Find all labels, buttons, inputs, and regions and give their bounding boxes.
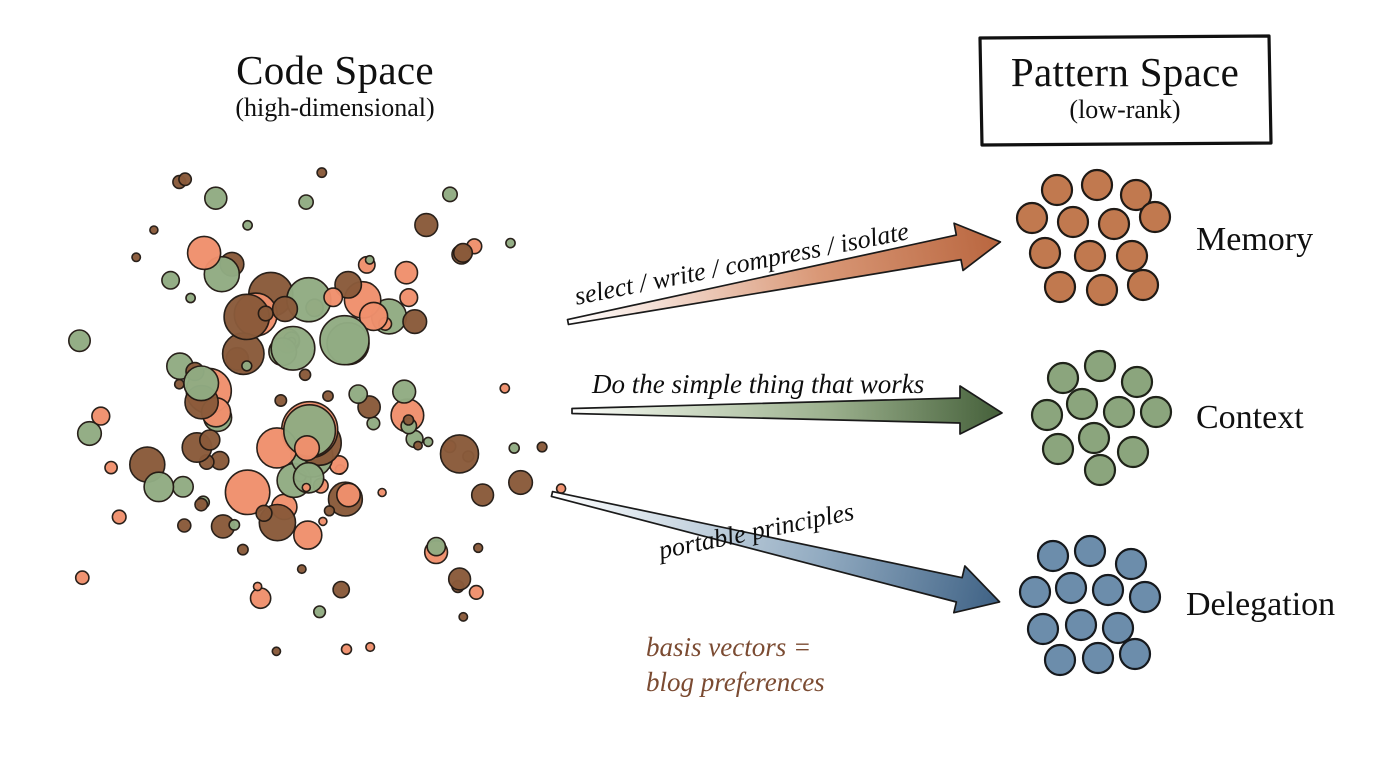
scatter-dot-sage <box>184 366 219 401</box>
cluster-dot-memory <box>1087 275 1117 305</box>
scatter-dot-salmon <box>251 588 271 608</box>
cluster-dot-memory <box>1058 207 1088 237</box>
scatter-dot-brown <box>449 568 471 590</box>
scatter-dot-brown <box>333 582 349 598</box>
cluster-dot-context <box>1079 423 1109 453</box>
scatter-dot-sage <box>320 316 369 365</box>
cluster-label-context: Context <box>1196 399 1304 437</box>
scatter-dot-salmon <box>105 462 117 474</box>
scatter-dot-salmon <box>378 489 386 497</box>
cluster-dot-delegation <box>1045 645 1075 675</box>
scatter-dot-sage <box>349 385 367 403</box>
scatter-dot-brown <box>300 369 311 380</box>
cluster-dot-delegation <box>1120 639 1150 669</box>
cluster-dot-context <box>1032 400 1062 430</box>
scatter-dot-brown <box>317 168 326 177</box>
pattern-space-heading: Pattern Space (low-rank) <box>977 50 1273 124</box>
scatter-dot-sage <box>314 606 326 618</box>
cluster-dot-memory <box>1042 175 1072 205</box>
cluster-dot-context <box>1067 389 1097 419</box>
scatter-dot-brown <box>150 226 158 234</box>
scatter-dot-brown <box>298 565 306 573</box>
scatter-dot-brown <box>474 544 483 553</box>
scatter-dot-sage <box>69 330 90 351</box>
scatter-dot-sage <box>299 195 313 209</box>
cluster-dot-memory <box>1140 202 1170 232</box>
cluster-dot-context <box>1122 367 1152 397</box>
scatter-dot-brown <box>415 214 438 237</box>
cluster-dot-context <box>1085 455 1115 485</box>
scatter-dot-brown <box>323 391 333 401</box>
cluster-dot-delegation <box>1130 582 1160 612</box>
cluster-dot-delegation <box>1103 613 1133 643</box>
scatter-dot-sage <box>162 272 179 289</box>
cluster-context <box>1032 351 1171 485</box>
scatter-dot-sage <box>427 538 445 556</box>
scatter-dot-sage <box>509 443 519 453</box>
scatter-dot-sage <box>443 187 457 201</box>
scatter-dot-salmon <box>188 236 221 269</box>
scatter-dot-brown <box>238 544 248 554</box>
cluster-delegation <box>1020 536 1160 675</box>
cluster-dot-memory <box>1030 238 1060 268</box>
scatter-dot-sage <box>424 437 433 446</box>
cluster-dot-memory <box>1082 170 1112 200</box>
cluster-memory <box>1017 170 1170 305</box>
cluster-dot-delegation <box>1020 577 1050 607</box>
arrow-shape-delegation <box>547 470 1006 623</box>
cluster-dot-memory <box>1017 203 1047 233</box>
cluster-dot-memory <box>1045 272 1075 302</box>
cluster-dot-delegation <box>1075 536 1105 566</box>
cluster-dot-memory <box>1128 270 1158 300</box>
scatter-dot-salmon <box>366 643 375 652</box>
scatter-dot-brown <box>459 613 467 621</box>
scatter-dot-brown <box>200 430 220 450</box>
scatter-dot-brown <box>132 253 140 261</box>
cluster-dot-delegation <box>1038 541 1068 571</box>
cluster-dot-delegation <box>1066 610 1096 640</box>
code-space-title: Code Space <box>130 48 540 92</box>
scatter-dot-brown <box>275 395 286 406</box>
cluster-dot-context <box>1104 397 1134 427</box>
scatter-dot-salmon <box>324 288 342 306</box>
scatter-dot-salmon <box>395 262 417 284</box>
scatter-dot-brown <box>178 519 191 532</box>
scatter-dot-salmon <box>319 517 327 525</box>
code-space-scatter <box>69 168 566 656</box>
scatter-dot-sage <box>205 187 227 209</box>
pattern-space-subtitle: (low-rank) <box>977 96 1273 124</box>
scatter-dot-brown <box>179 173 191 185</box>
cluster-label-delegation: Delegation <box>1186 586 1335 624</box>
scatter-dot-salmon <box>254 582 262 590</box>
scatter-dot-sage <box>367 417 380 430</box>
scatter-dot-brown <box>441 435 479 473</box>
cluster-dot-memory <box>1117 241 1147 271</box>
cluster-label-memory: Memory <box>1196 221 1313 259</box>
scatter-dot-salmon <box>400 289 418 307</box>
scatter-dot-sage <box>229 520 239 530</box>
scatter-dot-brown <box>175 380 184 389</box>
scatter-dot-sage <box>242 361 252 371</box>
cluster-dot-memory <box>1075 241 1105 271</box>
scatter-dot-salmon <box>302 484 310 492</box>
scatter-dot-salmon <box>92 407 110 425</box>
scatter-dot-brown <box>273 297 298 322</box>
arrow-delegation <box>547 470 1006 623</box>
code-space-heading: Code Space (high-dimensional) <box>130 48 540 122</box>
diagram-canvas: Code Space (high-dimensional) Pattern Sp… <box>0 0 1376 768</box>
scatter-dot-sage <box>393 380 416 403</box>
cluster-dot-context <box>1048 363 1078 393</box>
scatter-dot-salmon <box>76 571 89 584</box>
scatter-dot-salmon <box>295 436 320 461</box>
pattern-space-title: Pattern Space <box>977 50 1273 94</box>
scatter-dot-brown <box>414 441 422 449</box>
scatter-dot-salmon <box>294 521 322 549</box>
scatter-dot-brown <box>325 506 335 516</box>
scatter-dot-brown <box>403 310 427 334</box>
scatter-dot-salmon <box>337 483 360 506</box>
scatter-dot-salmon <box>342 644 352 654</box>
scatter-dot-sage <box>186 293 195 302</box>
cluster-dot-delegation <box>1093 575 1123 605</box>
cluster-dot-context <box>1141 397 1171 427</box>
scatter-dot-sage <box>243 221 252 230</box>
scatter-dot-salmon <box>112 510 126 524</box>
cluster-dot-context <box>1118 437 1148 467</box>
scatter-dot-sage <box>506 239 515 248</box>
cluster-dot-delegation <box>1028 614 1058 644</box>
scatter-dot-brown <box>472 484 494 506</box>
cluster-dot-delegation <box>1083 643 1113 673</box>
code-space-subtitle: (high-dimensional) <box>130 94 540 122</box>
scatter-dot-brown <box>509 471 533 495</box>
footnote-line-1: basis vectors = <box>646 630 976 665</box>
cluster-dot-context <box>1043 434 1073 464</box>
footnote-line-2: blog preferences <box>646 665 976 700</box>
scatter-dot-brown <box>404 415 414 425</box>
arrow-label-context: Do the simple thing that works <box>592 369 924 400</box>
scatter-dot-sage <box>366 256 374 264</box>
scatter-dot-brown <box>195 498 207 510</box>
scatter-dot-brown <box>537 442 547 452</box>
cluster-dot-delegation <box>1116 549 1146 579</box>
scatter-dot-salmon <box>557 484 566 493</box>
scatter-dot-salmon <box>470 586 484 600</box>
scatter-dot-sage <box>173 477 193 497</box>
scatter-dot-sage <box>271 327 315 371</box>
scatter-dot-brown <box>272 647 280 655</box>
scatter-dot-brown <box>258 306 273 321</box>
cluster-dot-delegation <box>1056 573 1086 603</box>
scatter-dot-sage <box>144 472 173 501</box>
scatter-dot-brown <box>256 505 272 521</box>
cluster-dot-memory <box>1099 209 1129 239</box>
scatter-dot-brown <box>454 244 473 263</box>
scatter-dot-salmon <box>500 384 509 393</box>
footnote: basis vectors = blog preferences <box>646 630 976 699</box>
cluster-dot-context <box>1085 351 1115 381</box>
pattern-cluster-group <box>1017 170 1171 675</box>
